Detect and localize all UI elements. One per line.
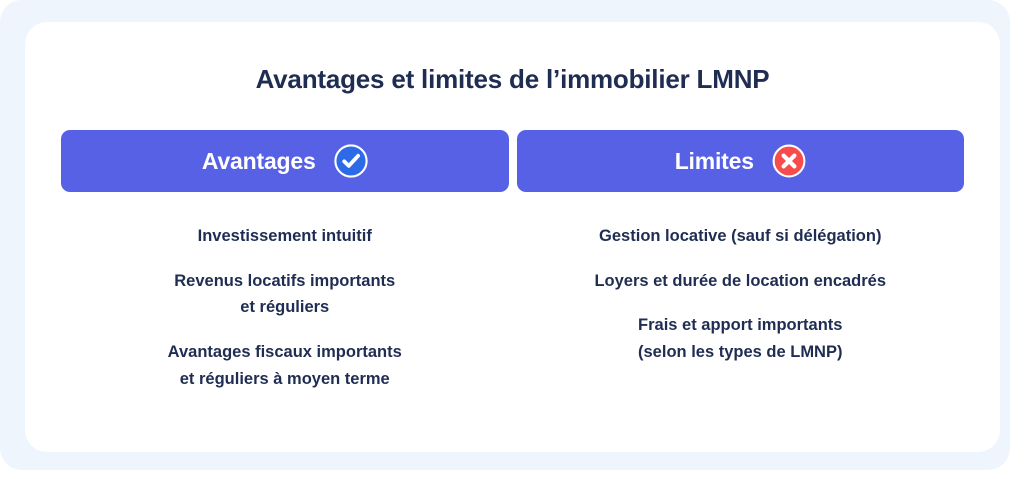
content-card: Avantages et limites de l’immobilier LMN… <box>25 22 1000 452</box>
page-title: Avantages et limites de l’immobilier LMN… <box>25 64 1000 95</box>
check-circle-icon <box>334 144 368 178</box>
list-item-line1: Avantages fiscaux importants <box>168 343 402 361</box>
list-item-line1: Gestion locative (sauf si délégation) <box>599 227 881 245</box>
column-header-label-limites: Limites <box>675 148 754 175</box>
column-items-limites: Gestion locative (sauf si délégation) Lo… <box>517 214 965 375</box>
column-header-limites: Limites <box>517 130 965 192</box>
list-item: Loyers et durée de location encadrés <box>517 259 965 304</box>
list-item: Frais et apport importants (selon les ty… <box>517 303 965 374</box>
list-item-line2: et réguliers à moyen terme <box>61 366 509 393</box>
comparison-columns: Avantages Investissement intuitif <box>61 130 964 402</box>
list-item-line2: et réguliers <box>61 294 509 321</box>
list-item: Gestion locative (sauf si délégation) <box>517 214 965 259</box>
infographic-root: Avantages et limites de l’immobilier LMN… <box>0 0 1024 479</box>
column-items-avantages: Investissement intuitif Revenus locatifs… <box>61 214 509 402</box>
cross-circle-icon <box>772 144 806 178</box>
column-header-avantages: Avantages <box>61 130 509 192</box>
column-limites: Limites Gestion locative (sauf si déléga… <box>517 130 965 402</box>
list-item-line1: Revenus locatifs importants <box>174 272 395 290</box>
list-item-line2: (selon les types de LMNP) <box>517 339 965 366</box>
list-item: Avantages fiscaux importants et régulier… <box>61 330 509 401</box>
list-item-line1: Loyers et durée de location encadrés <box>594 272 886 290</box>
list-item-line1: Investissement intuitif <box>198 227 372 245</box>
list-item-line1: Frais et apport importants <box>638 316 842 334</box>
list-item: Revenus locatifs importants et réguliers <box>61 259 509 330</box>
column-avantages: Avantages Investissement intuitif <box>61 130 509 402</box>
list-item: Investissement intuitif <box>61 214 509 259</box>
column-header-label-avantages: Avantages <box>202 148 316 175</box>
